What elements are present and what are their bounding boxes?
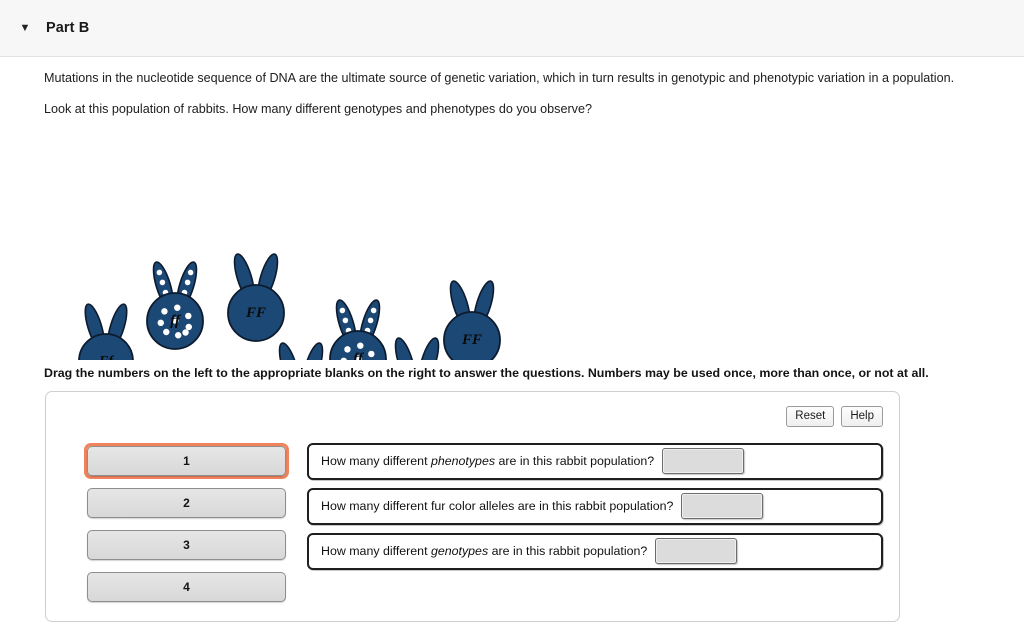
question-text-emphasis: phenotypes [431, 454, 495, 468]
drag-tile-wrapper-4[interactable]: 4 [84, 569, 289, 605]
question-label: How many different fur color alleles are… [321, 499, 673, 513]
reset-button[interactable]: Reset [786, 406, 834, 427]
question-text-emphasis: genotypes [431, 544, 488, 558]
question-label: How many different genotypes are in this… [321, 544, 647, 558]
answer-drop-slot[interactable] [681, 493, 763, 519]
panel-toolbar: Reset Help [62, 406, 883, 427]
question-alleles: How many different fur color alleles are… [307, 488, 883, 525]
rabbit-Ff: Ff [273, 341, 329, 360]
question-text-prefix: How many different [321, 544, 431, 558]
answer-drop-slot[interactable] [655, 538, 737, 564]
intro-paragraph: Mutations in the nucleotide sequence of … [44, 69, 980, 87]
fur-spot [182, 329, 188, 335]
fur-spot [158, 319, 164, 325]
rabbit-ear [162, 359, 189, 360]
question-text-suffix: are in this rabbit population? [488, 544, 647, 558]
drag-tile-3[interactable]: 3 [87, 530, 286, 560]
question-prose: Mutations in the nucleotide sequence of … [0, 69, 1024, 119]
rabbit-ff: ff [147, 260, 203, 349]
drag-drop-panel: Reset Help 1234 How many different pheno… [45, 391, 900, 622]
rabbit-ear [299, 341, 326, 360]
drag-tile-1[interactable]: 1 [87, 446, 286, 476]
rabbit-population-figure: FfffFFFFFfFfffFFFFff [36, 125, 496, 360]
rabbit-Ff: Ff [79, 302, 133, 360]
fur-spot [186, 323, 192, 329]
question-list: How many different phenotypes are in thi… [307, 443, 883, 570]
fur-spot [344, 346, 350, 352]
question-text-prefix: How many different [321, 454, 431, 468]
rabbit-population-svg: FfffFFFFFfFfffFFFFff [36, 125, 506, 360]
fur-spot [161, 308, 167, 314]
part-header[interactable]: ▼ Part B [0, 0, 1024, 57]
fur-spot [163, 328, 169, 334]
drag-instruction: Drag the numbers on the left to the appr… [0, 366, 1024, 380]
fur-spot [175, 332, 181, 338]
fur-spot [185, 312, 191, 318]
rabbit-ear [392, 336, 419, 360]
genotype-label: Ff [98, 354, 114, 360]
drag-tile-wrapper-2[interactable]: 2 [84, 485, 289, 521]
drag-tile-wrapper-1[interactable]: 1 [84, 443, 289, 479]
genotype-label: FF [245, 305, 266, 321]
fur-spot [368, 350, 374, 356]
rabbit-ff: ff [330, 298, 386, 360]
question-text-prefix: How many different fur color alleles are… [321, 499, 673, 513]
drag-drop-body: 1234 How many different phenotypes are i… [62, 443, 883, 605]
drag-tile-2[interactable]: 2 [87, 488, 286, 518]
page-title: Part B [46, 20, 89, 36]
drag-tile-wrapper-3[interactable]: 3 [84, 527, 289, 563]
genotype-label: FF [461, 332, 482, 348]
rabbit-FF: FF [389, 336, 445, 360]
rabbit-ear [415, 336, 442, 360]
question-phenotypes: How many different phenotypes are in thi… [307, 443, 883, 480]
question-text-suffix: are in this rabbit population? [495, 454, 654, 468]
rabbit-FF: FF [444, 279, 500, 360]
drag-tile-4[interactable]: 4 [87, 572, 286, 602]
draggable-number-bank: 1234 [84, 443, 289, 605]
rabbit-FF: FF [228, 252, 284, 341]
help-button[interactable]: Help [841, 406, 883, 427]
prompt-paragraph: Look at this population of rabbits. How … [44, 100, 980, 118]
question-label: How many different phenotypes are in thi… [321, 454, 654, 468]
rabbit-ear [276, 341, 303, 360]
rabbit-ear [139, 359, 166, 360]
rabbit-FF: FF [136, 359, 192, 360]
fur-spot [174, 304, 180, 310]
triangle-down-icon[interactable]: ▼ [18, 21, 32, 35]
fur-spot [357, 342, 363, 348]
answer-drop-slot[interactable] [662, 448, 744, 474]
question-genotypes: How many different genotypes are in this… [307, 533, 883, 570]
